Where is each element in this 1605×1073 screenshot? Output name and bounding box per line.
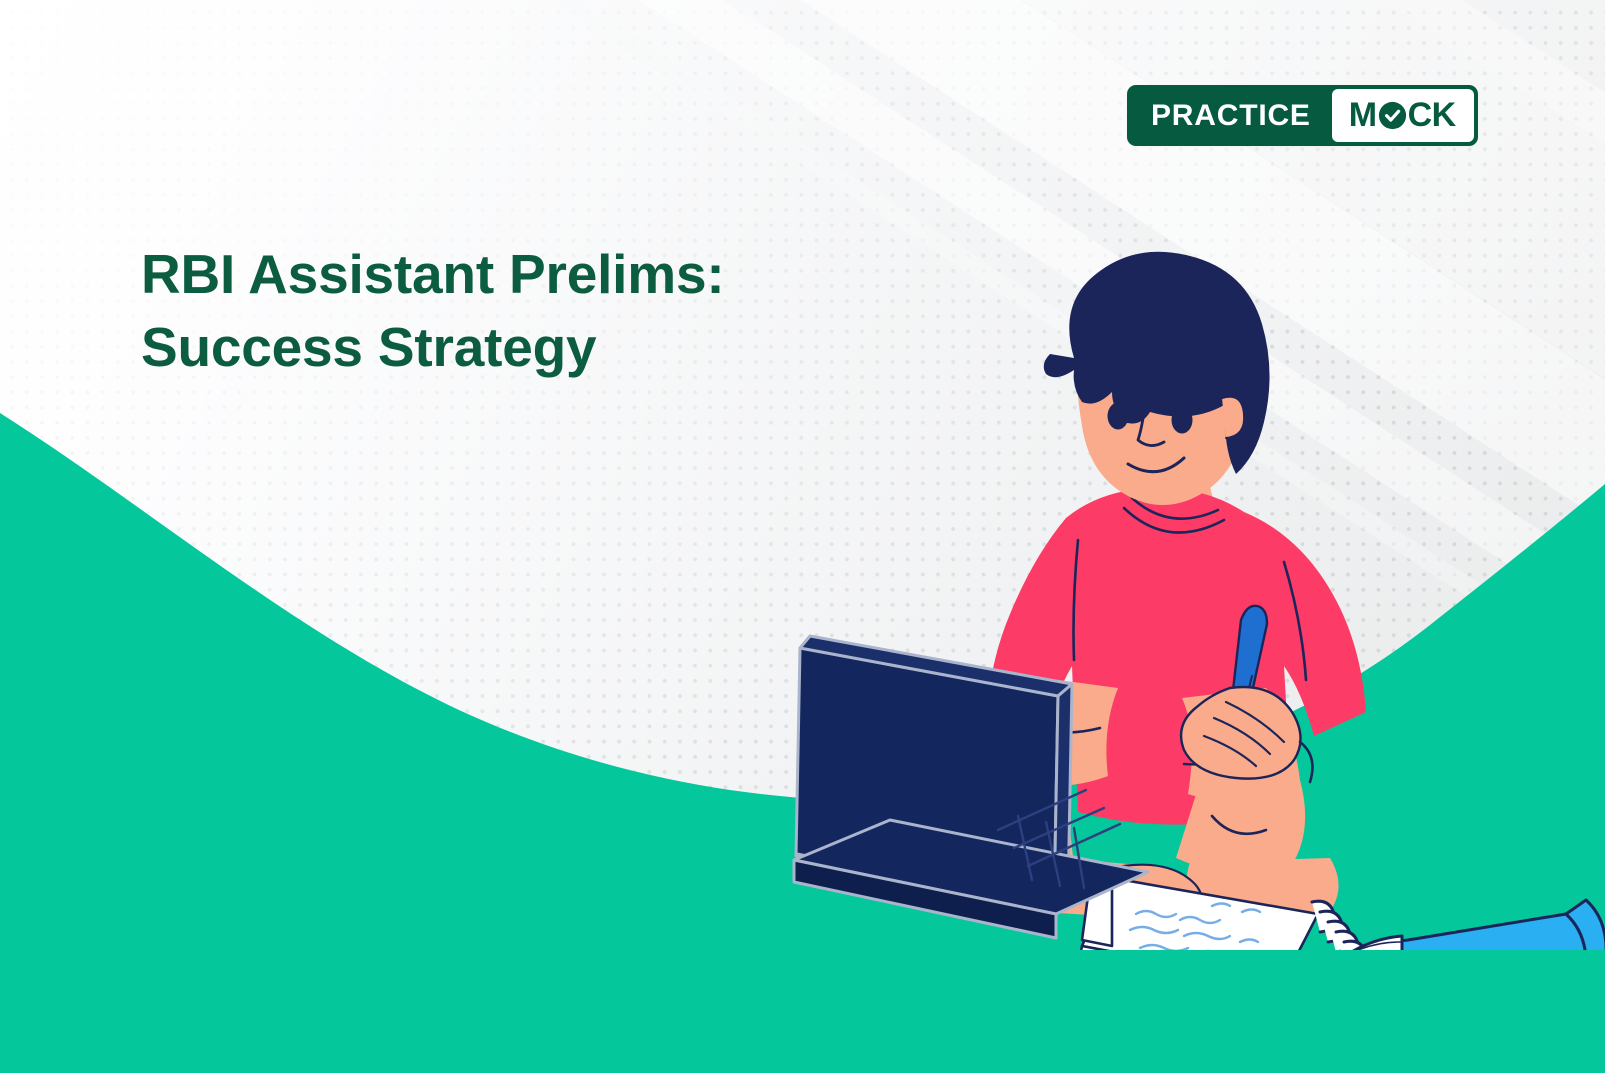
brand-logo[interactable]: PRACTICE M CK [1127,85,1478,146]
logo-word-practice: PRACTICE [1127,85,1332,146]
logo-mock-m: M [1349,96,1377,135]
page-title: RBI Assistant Prelims: Success Strategy [141,238,971,384]
check-circle-icon [1378,101,1407,130]
logo-mock-ck: CK [1408,96,1456,135]
banner-canvas: RBI Assistant Prelims: Success Strategy … [0,0,1605,1073]
logo-word-mock: M CK [1332,89,1474,142]
